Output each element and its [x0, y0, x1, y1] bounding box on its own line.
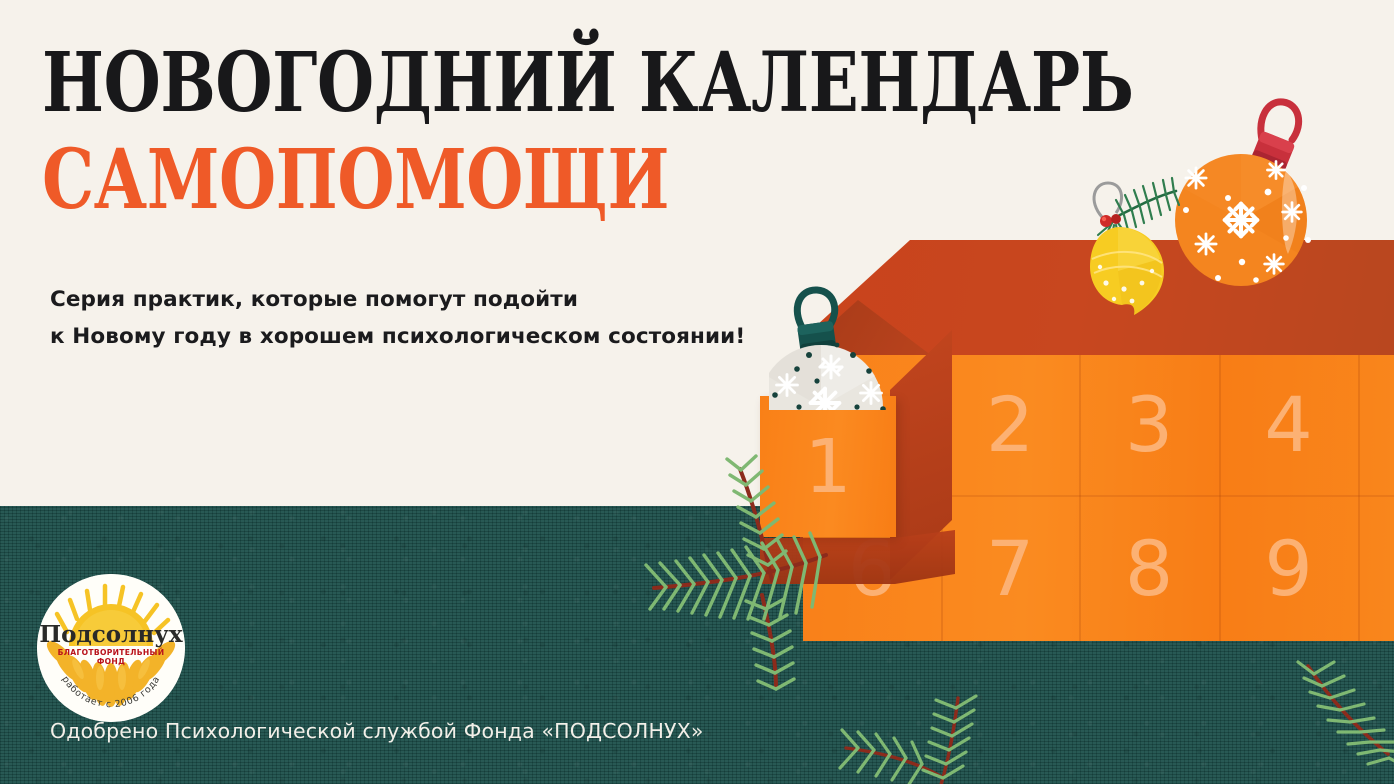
headline-block: НОВОГОДНИЙ КАЛЕНДАРЬ САМОПОМОЩИ	[42, 46, 1394, 219]
calendar-cell-7[interactable]: 7	[941, 497, 1079, 641]
calendar-cell-5[interactable]	[1358, 355, 1394, 495]
calendar-cell-number: 9	[1264, 531, 1312, 607]
subtitle-line-2: к Новому году в хорошем психологическом …	[50, 319, 745, 356]
pine-branch-bottom-right-icon	[1296, 660, 1394, 784]
new-year-self-help-calendar-poster: 2 3 4 6 7 8 9	[0, 0, 1394, 784]
calendar-cell-10[interactable]	[1358, 497, 1394, 641]
white-bauble-ornament	[769, 285, 899, 415]
calendar-cell-9[interactable]: 9	[1219, 497, 1358, 641]
calendar-cell-3[interactable]: 3	[1079, 355, 1219, 495]
logo-brand-name: Подсолнух	[39, 621, 183, 648]
page-title-line-1: НОВОГОДНИЙ КАЛЕНДАРЬ	[42, 46, 1134, 121]
calendar-cell-2[interactable]: 2	[941, 355, 1079, 495]
calendar-cell-number: 4	[1264, 387, 1312, 463]
calendar-cell-number: 8	[1125, 531, 1173, 607]
calendar-cell-number: 2	[986, 387, 1034, 463]
logo-subtitle-line-1: БЛАГОТВОРИТЕЛЬНЫЙ	[58, 648, 165, 657]
subtitle-line-1: Серия практик, которые помогут подойти	[50, 282, 745, 319]
approval-caption: Одобрено Психологической службой Фонда «…	[50, 719, 704, 743]
subtitle-block: Серия практик, которые помогут подойти к…	[50, 282, 745, 355]
calendar-cell-number: 3	[1125, 387, 1173, 463]
pine-branch-bottom-left-icon	[836, 690, 1016, 784]
pine-branch-center-icon	[644, 443, 884, 698]
calendar-cell-8[interactable]: 8	[1079, 497, 1219, 641]
calendar-cell-number: 7	[986, 531, 1034, 607]
page-title-line-2: САМОПОМОЩИ	[42, 143, 1134, 218]
calendar-cell-4[interactable]: 4	[1219, 355, 1358, 495]
logo-subtitle-line-2: ФОНД	[97, 657, 125, 666]
podsolnuh-foundation-logo[interactable]: Подсолнух БЛАГОТВОРИТЕЛЬНЫЙ ФОНД работае…	[37, 574, 185, 722]
